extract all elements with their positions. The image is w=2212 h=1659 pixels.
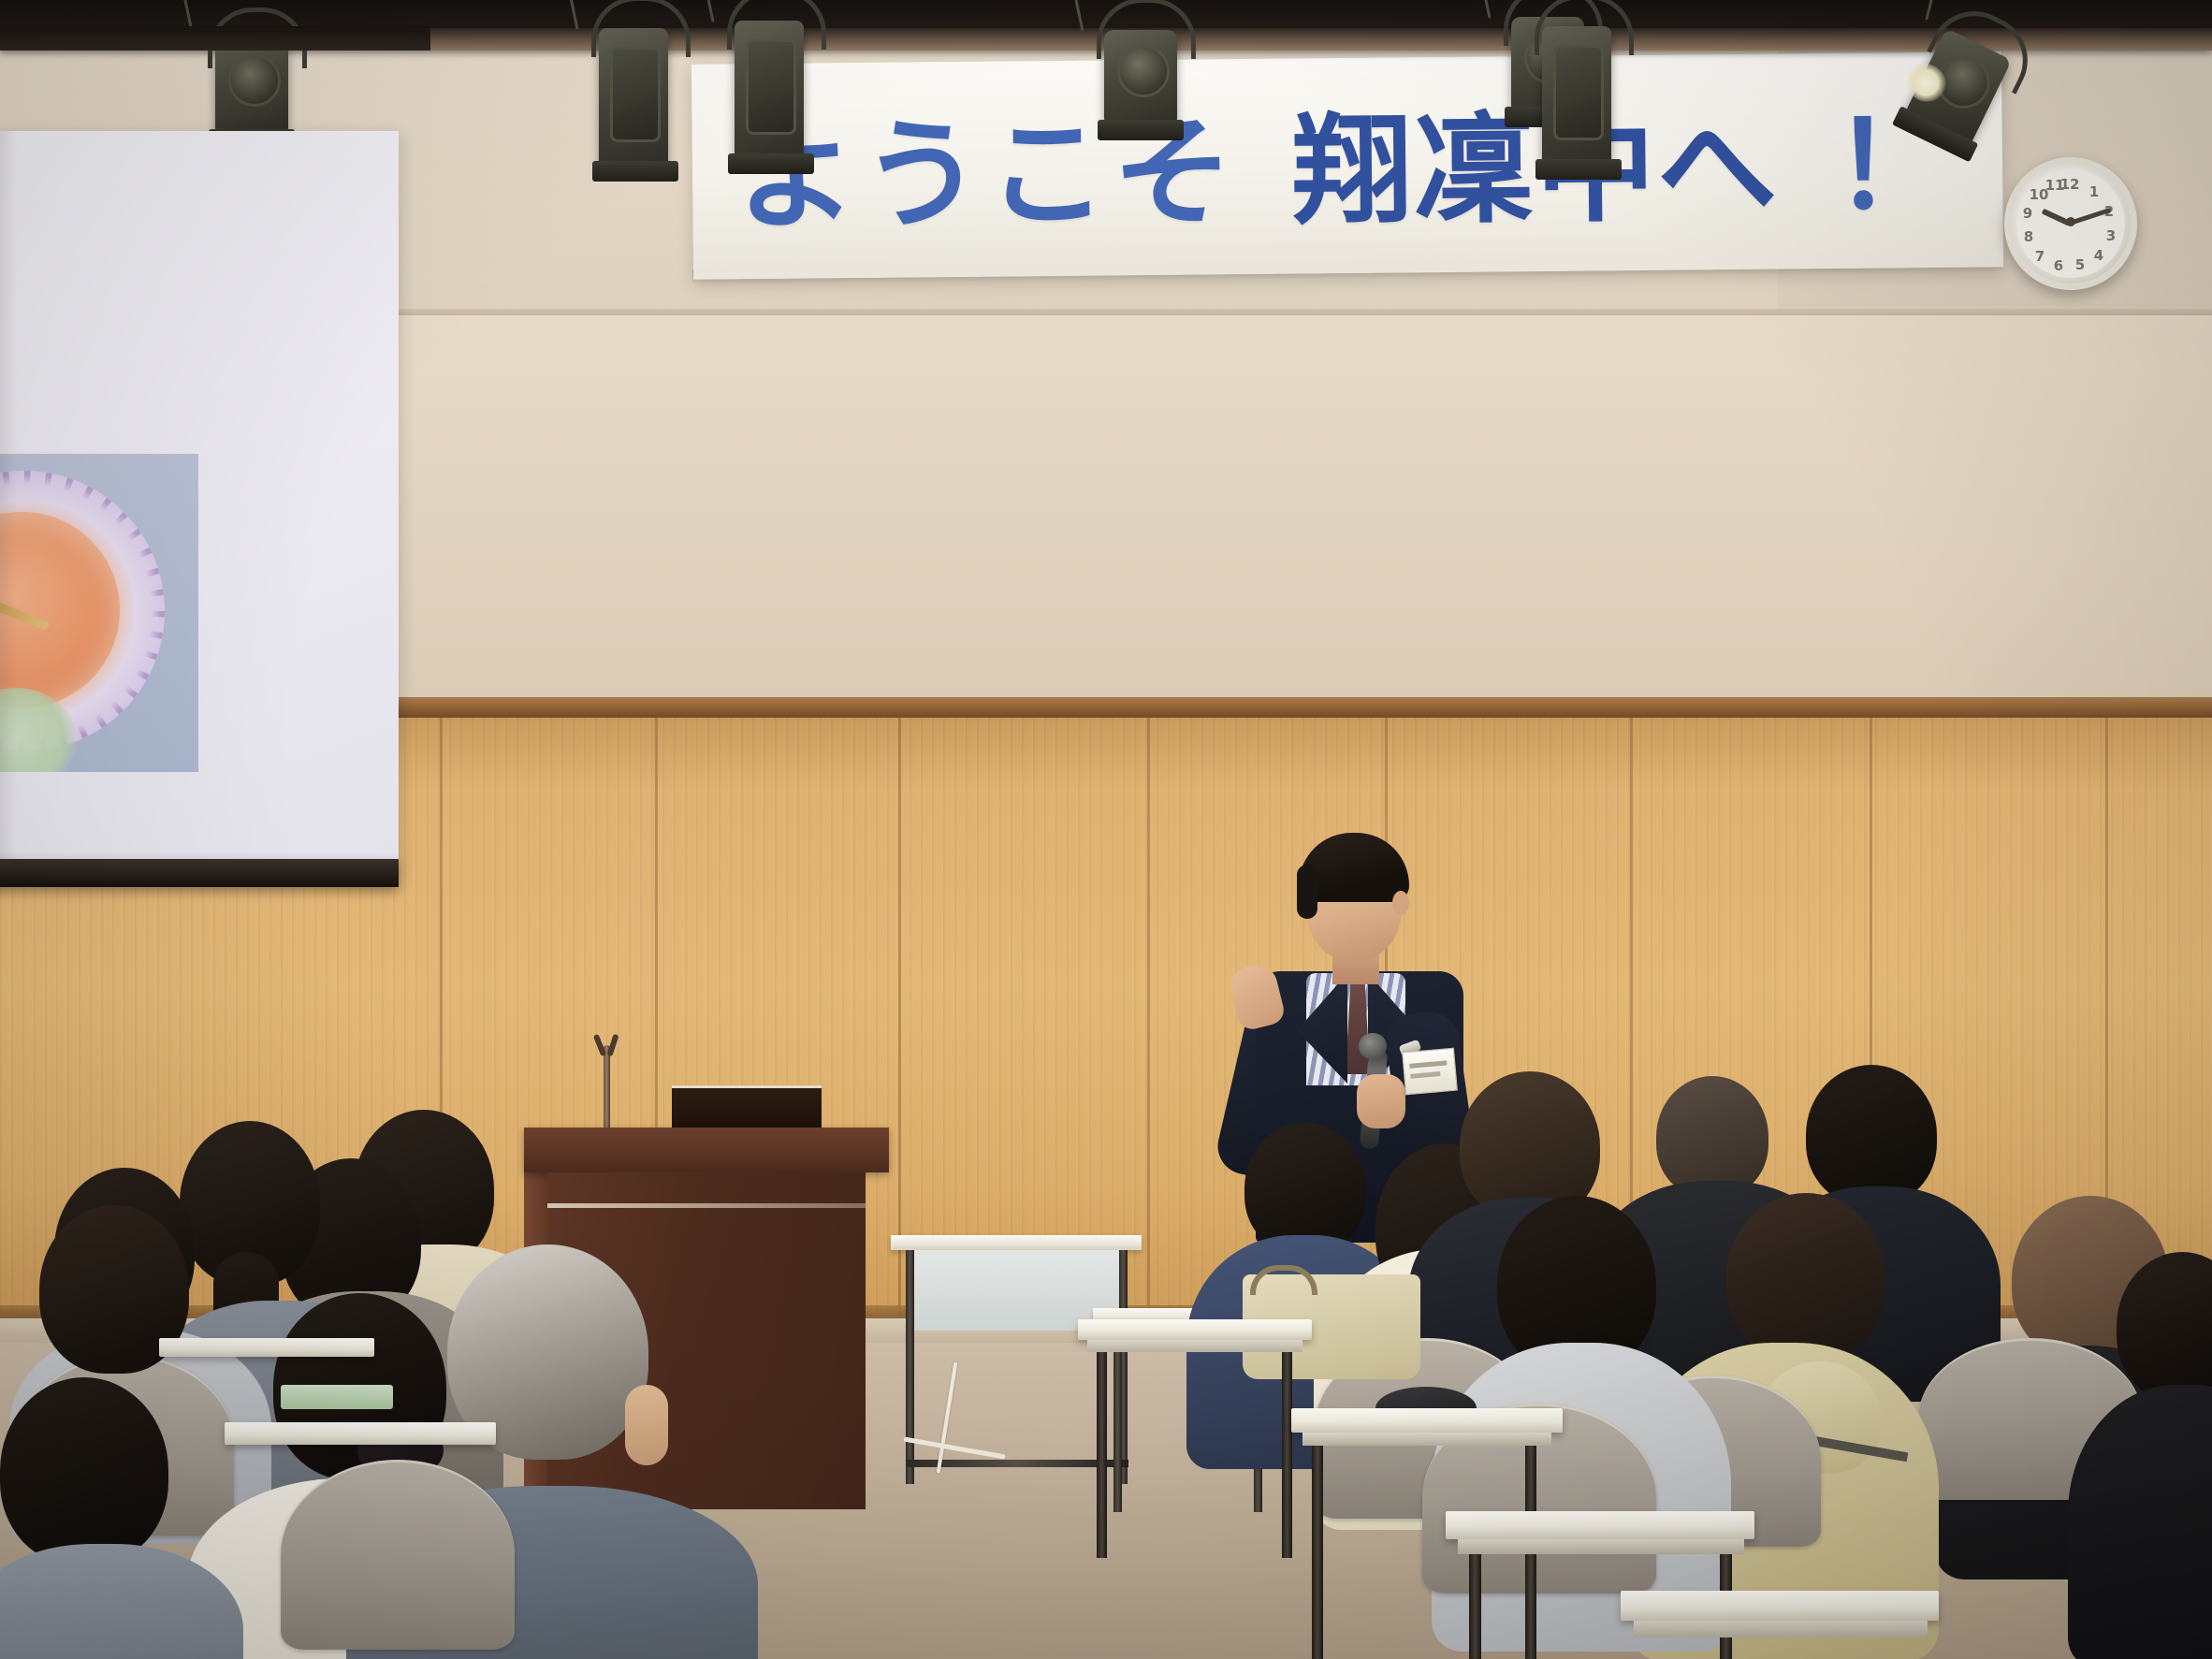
light-housing	[735, 21, 804, 161]
presenter-hand-on-mic	[1357, 1074, 1405, 1128]
projection-screen-roller	[0, 26, 430, 51]
table-paper-handout	[281, 1385, 393, 1409]
audience-table-leg	[1282, 1352, 1292, 1558]
audience-table-leg	[1312, 1446, 1323, 1659]
student-navy-head	[1244, 1123, 1366, 1254]
clock-number-8: 8	[2024, 228, 2033, 245]
podium-top-surface	[524, 1128, 889, 1172]
light-housing	[215, 39, 288, 137]
light-lens	[228, 54, 281, 107]
podium-edge-highlight	[547, 1203, 866, 1208]
clock-number-11: 11	[2045, 177, 2065, 194]
audience-table-top	[225, 1422, 496, 1445]
audience-table-top	[1291, 1408, 1563, 1433]
light-base	[1535, 159, 1622, 180]
stage-table-leg	[906, 1250, 914, 1484]
audience-table-edge	[1458, 1539, 1744, 1554]
podium-reading-shelf	[672, 1085, 822, 1133]
light-housing	[599, 28, 668, 168]
attendee-khaki-coat-head	[1726, 1193, 1885, 1361]
clock-number-9: 9	[2023, 205, 2032, 222]
clock-center-pin	[2066, 217, 2075, 226]
audience-table-top	[159, 1338, 374, 1357]
clock-number-3: 3	[2106, 227, 2116, 244]
clock-number-7: 7	[2035, 248, 2045, 265]
clock-number-6: 6	[2054, 257, 2063, 274]
badge-text-line	[1409, 1060, 1447, 1068]
presenter-name-badge	[1402, 1048, 1458, 1096]
microphone-icon	[595, 1034, 619, 1055]
audience-table-edge	[1634, 1621, 1928, 1637]
light-base	[728, 153, 814, 174]
attendee-suit-head	[1806, 1065, 1937, 1205]
photo-scene: ようこそ 翔凜中へ ！	[0, 0, 2212, 1659]
projection-screen	[0, 131, 399, 875]
wall-clock: 12 1 2 3 4 5 6 7 8 9 10 11	[2004, 157, 2137, 290]
welcome-banner: ようこそ 翔凜中へ ！	[691, 51, 2003, 279]
audience-table-edge	[1087, 1340, 1302, 1352]
projection-screen-weight	[0, 859, 399, 887]
wood-panel-seam	[1147, 718, 1150, 1317]
light-lens	[610, 47, 661, 142]
presenter-hair-side	[1297, 865, 1317, 919]
clock-number-4: 4	[2094, 247, 2103, 264]
audience-table-leg	[1469, 1554, 1481, 1659]
audience-table-top	[1078, 1319, 1312, 1340]
podium-microphone-stand	[604, 1045, 610, 1134]
clock-number-1: 1	[2089, 183, 2099, 200]
clock-number-5: 5	[2075, 256, 2085, 273]
stage-table-leg	[1113, 1325, 1122, 1512]
slide-photo	[0, 454, 198, 772]
screen-shading	[0, 131, 17, 875]
attendee-ponytail-b-head	[0, 1377, 168, 1564]
light-lens	[1553, 45, 1604, 140]
microphone-capsule	[1359, 1033, 1387, 1059]
badge-text-line	[1410, 1071, 1440, 1079]
presenter-ear	[1392, 891, 1409, 915]
audience-table-top	[1621, 1591, 1939, 1621]
audience-table-edge	[1302, 1433, 1551, 1446]
light-housing	[1104, 30, 1177, 127]
light-housing	[1542, 26, 1611, 167]
stage-side-table-top	[891, 1235, 1142, 1250]
light-base	[592, 161, 678, 182]
audience-table-leg	[1097, 1352, 1107, 1558]
audience-table-top	[1446, 1511, 1754, 1539]
light-lens	[746, 39, 796, 135]
light-lens	[1117, 45, 1170, 97]
audience-chair	[281, 1460, 515, 1650]
attendee-black-polo-head	[1656, 1076, 1768, 1198]
light-base	[1098, 120, 1184, 140]
wood-panel-seam	[898, 718, 901, 1317]
clock-face: 12 1 2 3 4 5 6 7 8 9 10 11	[2016, 169, 2125, 278]
attendee-ear	[625, 1385, 668, 1465]
